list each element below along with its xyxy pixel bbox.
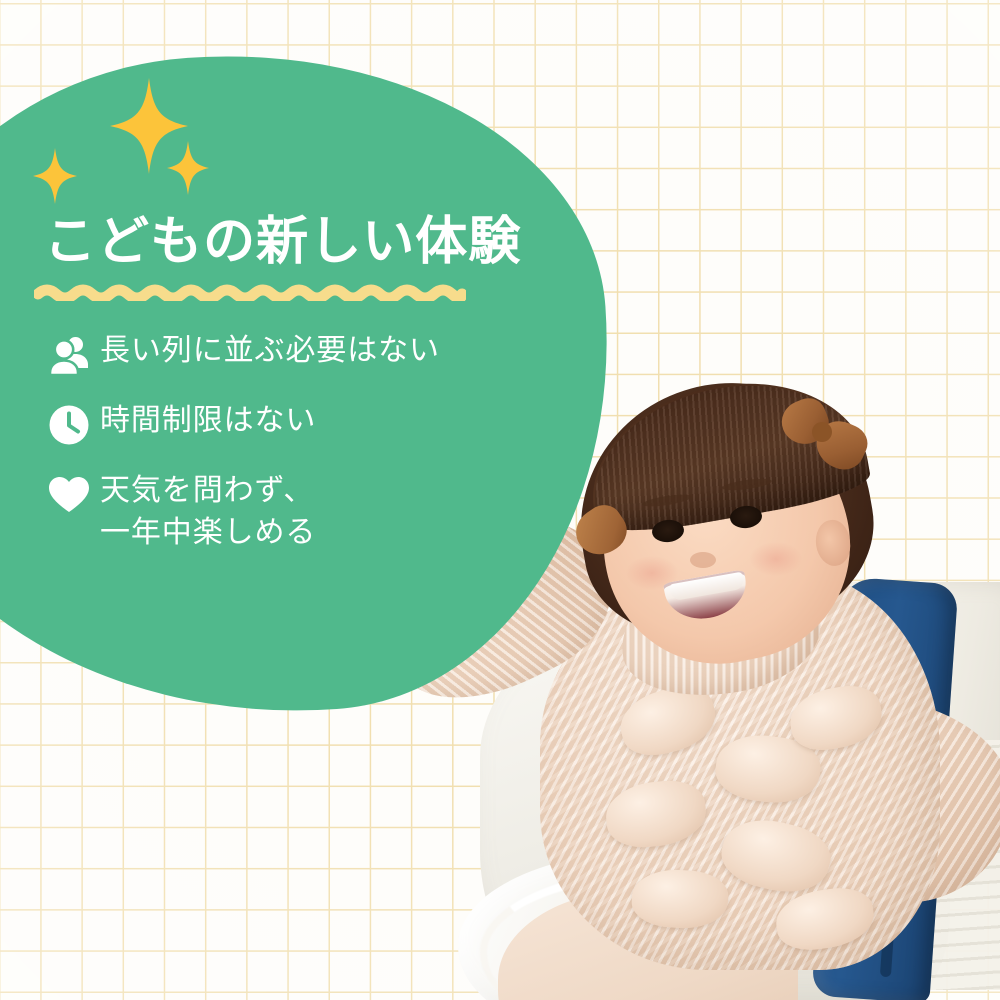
heart-icon <box>46 472 92 518</box>
wavy-underline <box>34 283 466 301</box>
page-title: こどもの新しい体験 <box>44 214 521 270</box>
list-item: 天気を問わず、 一年中楽しめる <box>46 470 516 554</box>
list-item-label: 時間制限はない <box>100 400 316 442</box>
clock-icon <box>46 402 92 448</box>
list-item: 長い列に並ぶ必要はない <box>46 330 516 378</box>
poster-canvas: こどもの新しい体験 長い列に並ぶ必要はない <box>0 0 1000 1000</box>
feature-list: 長い列に並ぶ必要はない 時間制限はない 天気を問わず、 一年中楽しめる <box>46 330 516 576</box>
list-item-label: 長い列に並ぶ必要はない <box>100 330 440 372</box>
list-item: 時間制限はない <box>46 400 516 448</box>
text-content-block: こどもの新しい体験 長い列に並ぶ必要はない <box>0 0 1000 1000</box>
list-item-label: 天気を問わず、 一年中楽しめる <box>100 470 316 554</box>
users-icon <box>46 332 92 378</box>
